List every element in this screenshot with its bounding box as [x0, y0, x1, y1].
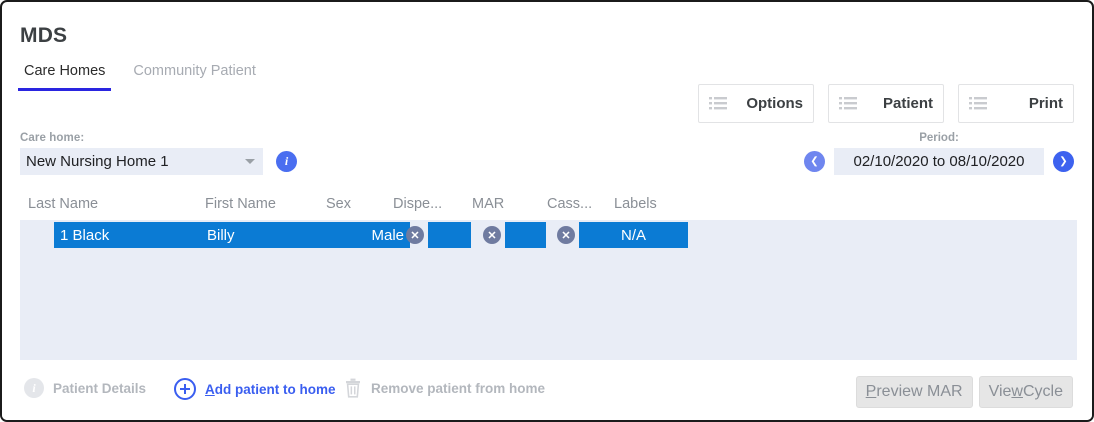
period-row: ❮ 02/10/2020 to 08/10/2020 ❯ — [804, 148, 1074, 175]
cell-last-name: 1 Black — [54, 222, 207, 248]
column-header-last-name[interactable]: Last Name — [28, 196, 98, 212]
period-selector: Period: ❮ 02/10/2020 to 08/10/2020 ❯ — [804, 132, 1074, 175]
column-header-sex[interactable]: Sex — [326, 196, 351, 212]
print-button-label: Print — [987, 95, 1063, 112]
footer-buttons: Preview MAR View Cycle — [856, 376, 1073, 408]
remove-patient-action[interactable]: Remove patient from home — [344, 378, 545, 398]
care-home-value: New Nursing Home 1 — [26, 153, 239, 170]
tab-care-homes[interactable]: Care Homes — [18, 62, 111, 91]
remove-patient-label: Remove patient from home — [371, 381, 545, 396]
mar-clear-icon[interactable]: ✕ — [483, 226, 501, 244]
view-cycle-button[interactable]: View Cycle — [979, 376, 1073, 408]
care-home-info-icon[interactable]: i — [276, 151, 297, 172]
tab-community-patient[interactable]: Community Patient — [127, 62, 262, 88]
add-patient-action[interactable]: Add patient to home — [174, 378, 336, 400]
care-home-selector: Care home: New Nursing Home 1 i — [20, 132, 297, 175]
add-patient-label: Add patient to home — [205, 382, 336, 397]
cell-labels: N/A — [579, 222, 688, 248]
preview-mar-accel: P — [866, 383, 877, 401]
care-home-label: Care home: — [20, 132, 297, 144]
column-header-first-name[interactable]: First Name — [205, 196, 276, 212]
list-icon — [709, 97, 727, 110]
plus-circle-icon — [174, 378, 196, 400]
list-icon — [839, 97, 857, 110]
cell-first-name: Billy — [201, 222, 327, 248]
period-next-icon[interactable]: ❯ — [1053, 151, 1074, 172]
info-icon: i — [24, 378, 44, 398]
column-header-mar[interactable]: MAR — [472, 196, 504, 212]
patient-button-label: Patient — [857, 95, 933, 112]
patient-list-panel[interactable]: 1 Black Billy Male ✕ ✕ ✕ N/A — [20, 220, 1077, 360]
cell-sex: Male — [321, 222, 410, 248]
chevron-down-icon — [245, 159, 255, 164]
footer-bar: i Patient Details Add patient to home Re… — [2, 364, 1092, 422]
table-header: Last Name First Name Sex Dispe... MAR Ca… — [20, 196, 1077, 218]
toolbar: Options Patient Print — [698, 84, 1074, 123]
period-label: Period: — [804, 132, 1074, 144]
preview-mar-rest: review MAR — [876, 383, 962, 401]
patient-details-action[interactable]: i Patient Details — [24, 378, 146, 398]
page-title: MDS — [20, 24, 67, 48]
care-home-row: New Nursing Home 1 i — [20, 148, 297, 175]
cell-dispensing — [428, 222, 471, 248]
options-button[interactable]: Options — [698, 84, 814, 123]
add-patient-accel: A — [205, 382, 215, 397]
mds-window: MDS Care Homes Community Patient Options… — [0, 0, 1094, 422]
care-home-dropdown[interactable]: New Nursing Home 1 — [20, 148, 263, 175]
column-header-dispensing[interactable]: Dispe... — [393, 196, 442, 212]
period-value[interactable]: 02/10/2020 to 08/10/2020 — [834, 148, 1044, 175]
view-cycle-pre: Vie — [989, 383, 1012, 401]
column-header-cassette[interactable]: Cass... — [547, 196, 592, 212]
print-button[interactable]: Print — [958, 84, 1074, 123]
tabbar: Care Homes Community Patient — [18, 62, 262, 91]
options-button-label: Options — [727, 95, 803, 112]
preview-mar-button[interactable]: Preview MAR — [856, 376, 973, 408]
cell-mar — [505, 222, 546, 248]
patient-details-label: Patient Details — [53, 381, 146, 396]
list-icon — [969, 97, 987, 110]
add-patient-rest: dd patient to home — [215, 382, 336, 397]
column-header-labels[interactable]: Labels — [614, 196, 657, 212]
trash-icon — [344, 378, 362, 398]
view-cycle-accel: w — [1011, 383, 1023, 401]
dispensing-clear-icon[interactable]: ✕ — [406, 226, 424, 244]
view-cycle-post: Cycle — [1023, 383, 1063, 401]
period-prev-icon[interactable]: ❮ — [804, 151, 825, 172]
cassette-clear-icon[interactable]: ✕ — [557, 226, 575, 244]
patient-button[interactable]: Patient — [828, 84, 944, 123]
table-row[interactable]: 1 Black Billy Male ✕ ✕ ✕ N/A — [54, 222, 688, 248]
